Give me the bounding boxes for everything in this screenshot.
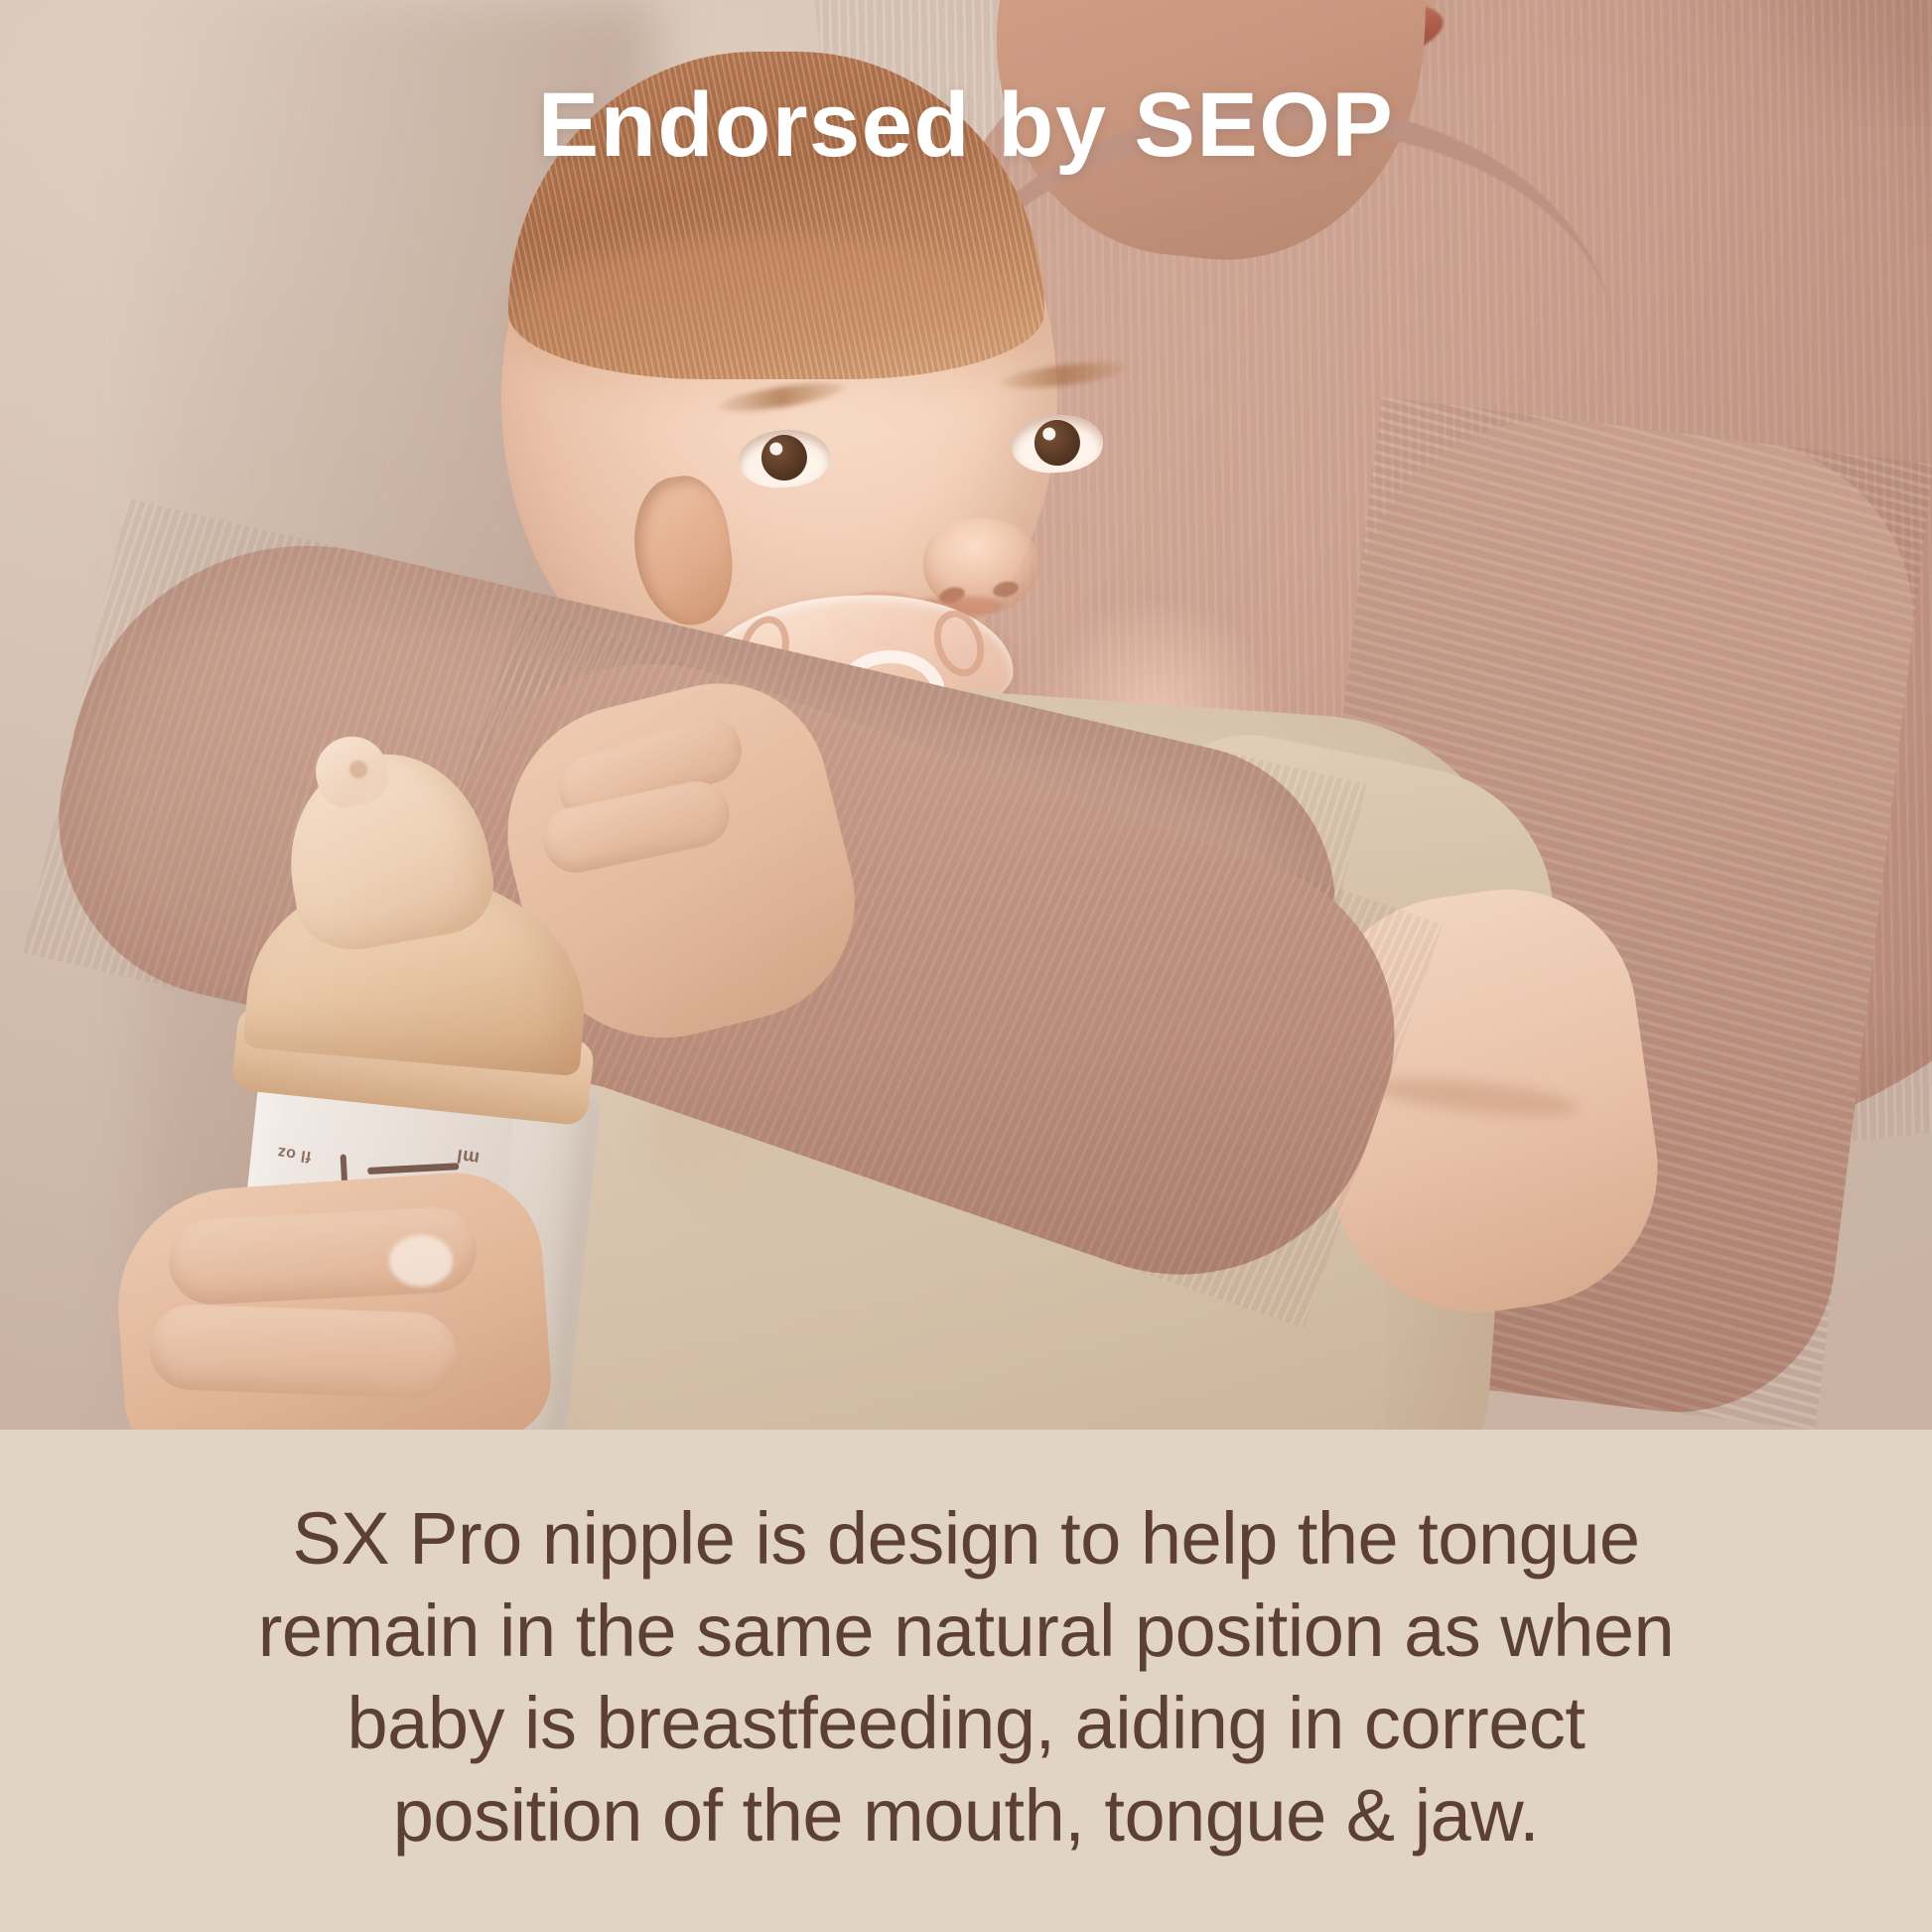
feeding-bottle-nipple-vent bbox=[349, 760, 367, 778]
caption-line-1: SX Pro nipple is design to help the tong… bbox=[122, 1492, 1810, 1585]
caption-line-4: position of the mouth, tongue & jaw. bbox=[122, 1769, 1810, 1862]
headline-endorsement: Endorsed by SEOP bbox=[0, 79, 1932, 171]
baby-iris-right bbox=[1033, 418, 1081, 467]
caption-panel: SX Pro nipple is design to help the tong… bbox=[0, 1430, 1932, 1932]
baby-iris-left bbox=[759, 433, 808, 482]
caption-line-3: baby is breastfeeding, aiding in correct bbox=[122, 1677, 1810, 1769]
bottle-hold-fingernail bbox=[389, 1235, 453, 1287]
product-ad-card: ml 180 150 120 90 fl oz Endorsed by SEOP… bbox=[0, 0, 1932, 1932]
bottle-hold-finger-lower bbox=[148, 1304, 459, 1400]
caption-body: SX Pro nipple is design to help the tong… bbox=[122, 1492, 1810, 1870]
hero-photo: ml 180 150 120 90 fl oz Endorsed by SEOP bbox=[0, 0, 1932, 1430]
bottle-scale-label-floz: fl oz bbox=[276, 1143, 313, 1166]
caption-line-2: remain in the same natural position as w… bbox=[122, 1585, 1810, 1677]
bottle-scale-label-ml: ml bbox=[455, 1144, 481, 1169]
